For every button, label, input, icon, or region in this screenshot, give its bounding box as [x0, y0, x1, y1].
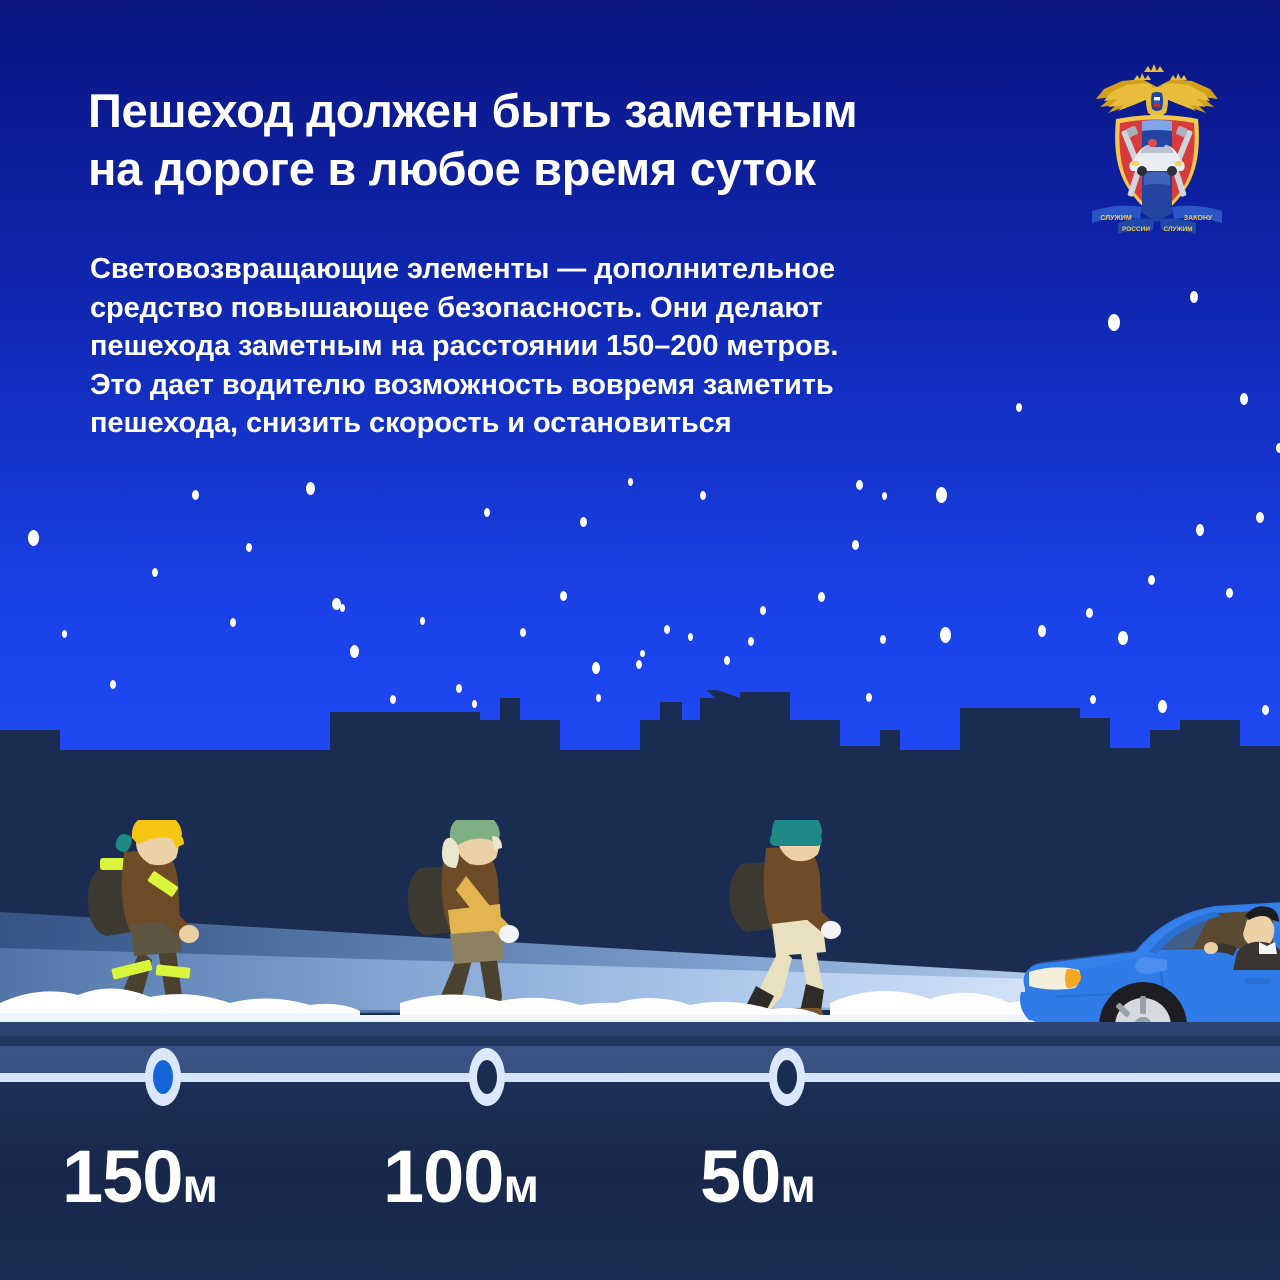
distance-timeline-line: [0, 1073, 1280, 1082]
snowflake: [688, 633, 693, 641]
snowflake: [880, 635, 886, 644]
sidewalk-shadow-band: [0, 1036, 1280, 1046]
snowflake: [760, 606, 766, 615]
snowflake: [1226, 588, 1233, 598]
snowflake: [592, 662, 600, 674]
distance-marker-core: [777, 1060, 797, 1094]
snowflake: [882, 492, 887, 500]
snowflake: [940, 627, 951, 643]
snowflake: [748, 637, 754, 646]
distance-unit: м: [780, 1160, 815, 1213]
ribbon-left-text: СЛУЖИМ: [1100, 215, 1132, 222]
snowflake: [1190, 291, 1198, 303]
snowflake: [560, 591, 567, 601]
headline-line-1: Пешеход должен быть заметным: [88, 82, 1048, 140]
snowflake: [420, 617, 425, 625]
snowflake: [664, 625, 670, 634]
snowflake: [1038, 625, 1046, 637]
body-line-3: пешехода заметным на расстоянии 150–200 …: [90, 327, 1010, 366]
body-line-2: средство повышающее безопасность. Они де…: [90, 289, 1010, 328]
distance-marker-100[interactable]: [469, 1048, 505, 1106]
page-title: Пешеход должен быть заметным на дороге в…: [88, 82, 1048, 198]
snowflake: [28, 530, 39, 546]
distance-label-100: 100м: [383, 1140, 538, 1214]
snowflake: [62, 630, 67, 638]
snowflake: [350, 645, 359, 658]
distance-unit: м: [182, 1160, 217, 1213]
snowflake: [1016, 403, 1022, 412]
snowflake: [1276, 443, 1280, 453]
ribbon-right-text: ЗАКОНУ: [1184, 215, 1213, 222]
distance-label-150: 150м: [62, 1140, 217, 1214]
snowflake: [332, 598, 341, 610]
distance-label-50: 50м: [700, 1140, 815, 1214]
snowflake: [1256, 512, 1264, 523]
snowflake: [1196, 524, 1204, 536]
distance-value: 100: [383, 1135, 503, 1218]
infographic-poster: 150м100м50м Пешеход должен быть заметным…: [0, 0, 1280, 1280]
body-line-5: пешехода, снизить скорость и остановитьс…: [90, 404, 1010, 443]
distance-marker-core: [477, 1060, 497, 1094]
snowflake: [700, 491, 706, 500]
snowflake: [152, 568, 158, 577]
snowflake: [1108, 314, 1120, 331]
body-line-4: Это дает водителю возможность вовремя за…: [90, 366, 1010, 405]
gibdd-mvd-emblem: СЛУЖИМ ЗАКОНУ РОССИИ СЛУЖИМ: [1082, 55, 1232, 235]
distance-marker-50[interactable]: [769, 1048, 805, 1106]
ribbon-center-bottom-text: СЛУЖИМ: [1163, 226, 1192, 233]
distance-value: 50: [700, 1135, 780, 1218]
snowflake: [1240, 393, 1248, 405]
sidewalk-band: [0, 1022, 1280, 1036]
snowflake: [818, 592, 825, 602]
snowflake: [110, 680, 116, 689]
distance-unit: м: [503, 1160, 538, 1213]
snowflake: [1086, 608, 1093, 618]
snowflake: [640, 650, 645, 657]
snowflake: [636, 660, 642, 669]
snowflake: [724, 656, 730, 665]
snowflake: [192, 490, 199, 500]
body-text: Световозвращающие элементы — дополнитель…: [90, 250, 1010, 443]
distance-marker-core: [153, 1060, 173, 1094]
snowflake: [520, 628, 526, 637]
headline-line-2: на дороге в любое время суток: [88, 140, 1048, 198]
snowflake: [856, 480, 863, 490]
snowflake: [1118, 631, 1128, 645]
snowflake: [936, 487, 947, 503]
distance-value: 150: [62, 1135, 182, 1218]
snowflake: [246, 543, 252, 552]
snowflake: [580, 517, 587, 527]
snowflake: [1148, 575, 1155, 585]
double-headed-eagle-icon: [1096, 64, 1218, 123]
ribbon-center-top-text: РОССИИ: [1122, 226, 1150, 233]
snowflake: [852, 540, 859, 550]
distance-marker-150[interactable]: [145, 1048, 181, 1106]
body-line-1: Световозвращающие элементы — дополнитель…: [90, 250, 1010, 289]
snowflake: [484, 508, 490, 517]
snowflake: [306, 482, 315, 495]
snowflake: [230, 618, 236, 627]
snowflake: [628, 478, 633, 486]
